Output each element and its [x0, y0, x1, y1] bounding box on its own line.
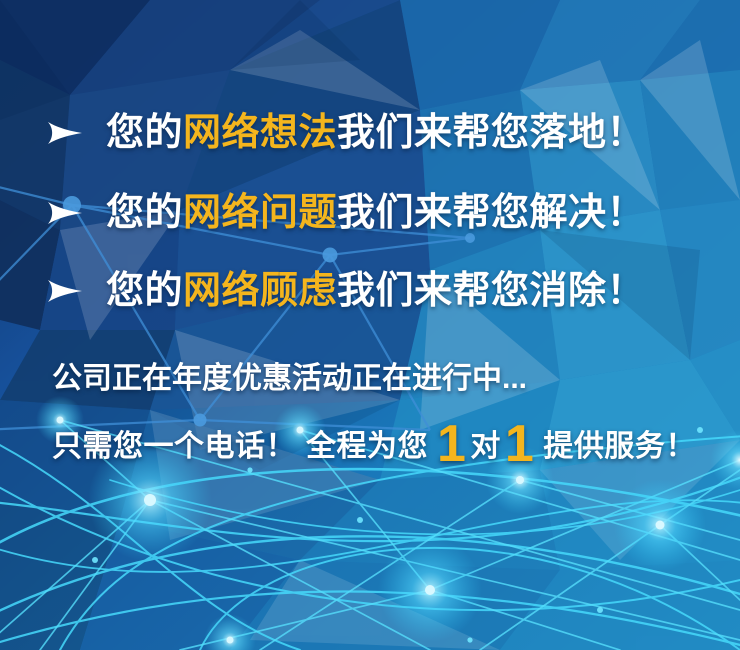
bullet-headline-3: 您的网络顾虑我们来帮您消除！: [106, 272, 645, 310]
arrow-right-icon: [44, 276, 84, 306]
one-to-one-first-digit: 1: [433, 415, 470, 473]
subline-part3: 提供服务！: [543, 430, 696, 463]
promo-banner: 您的网络想法我们来帮您落地！ 您的网络问题我们来帮您解决！ 您的网络顾虑我们来帮…: [0, 0, 740, 650]
subline-part2: 全程为您: [306, 430, 428, 463]
bullet-prefix-1: 您的: [106, 112, 183, 154]
bullet-item-2: 您的网络问题我们来帮您解决！: [44, 188, 645, 238]
bullet-prefix-3: 您的: [106, 270, 183, 312]
promo-subline-2: 只需您一个电话！全程为您1对1提供服务！: [52, 432, 696, 462]
one-to-one-second-digit: 1: [501, 415, 538, 473]
bullet-item-1: 您的网络想法我们来帮您落地！: [44, 108, 645, 158]
bullet-prefix-2: 您的: [106, 192, 183, 234]
promo-subline-1: 公司正在年度优惠活动正在进行中...: [52, 364, 527, 394]
arrow-right-icon: [44, 198, 84, 228]
bullet-highlight-1: 网络想法: [183, 112, 337, 154]
bullet-highlight-2: 网络问题: [183, 192, 337, 234]
bullet-suffix-3: 我们来帮您消除！: [337, 270, 645, 312]
banner-content: 您的网络想法我们来帮您落地！ 您的网络问题我们来帮您解决！ 您的网络顾虑我们来帮…: [0, 0, 740, 650]
bullet-suffix-2: 我们来帮您解决！: [337, 192, 645, 234]
bullet-suffix-1: 我们来帮您落地！: [337, 112, 645, 154]
bullet-headline-2: 您的网络问题我们来帮您解决！: [106, 194, 645, 232]
subline-part1: 只需您一个电话！: [52, 430, 296, 463]
bullet-item-3: 您的网络顾虑我们来帮您消除！: [44, 266, 645, 316]
bullet-highlight-3: 网络顾虑: [183, 270, 337, 312]
bullet-headline-1: 您的网络想法我们来帮您落地！: [106, 114, 645, 152]
subline-mid: 对: [470, 430, 501, 463]
arrow-right-icon: [44, 118, 84, 148]
